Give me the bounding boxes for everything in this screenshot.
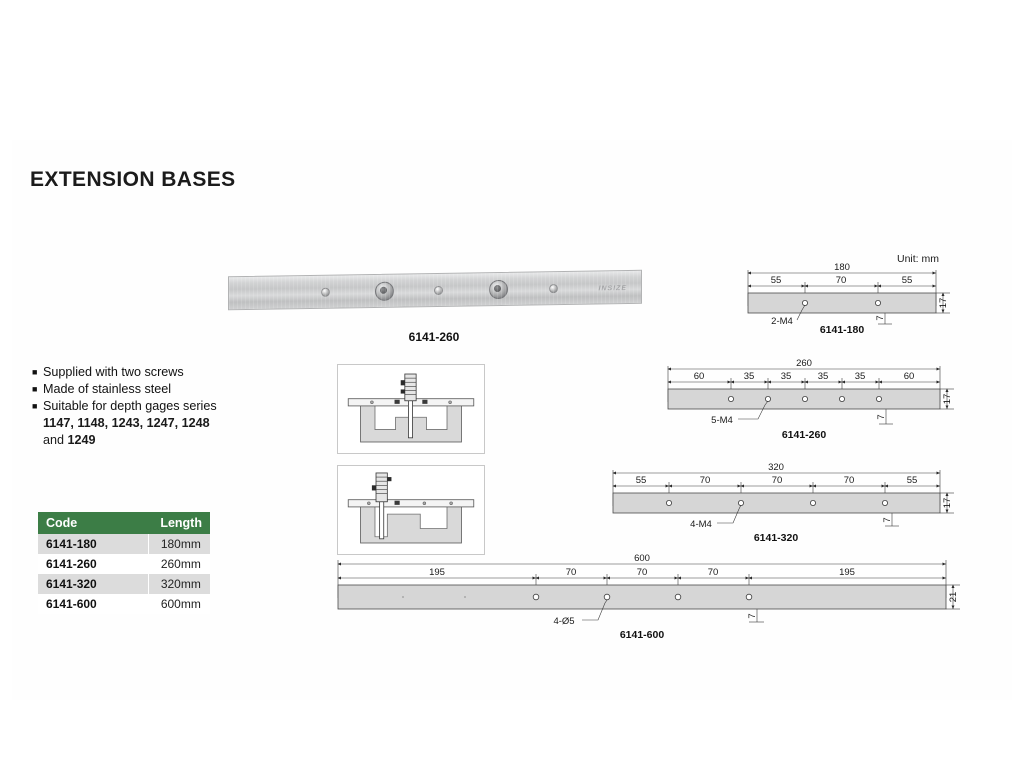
- application-diagram-centered: [337, 364, 485, 454]
- dim-seg: 195: [429, 567, 445, 578]
- column-header-code: Code: [38, 512, 148, 534]
- bullet-square-icon: ■: [32, 381, 43, 398]
- dim-seg: 70: [836, 275, 847, 286]
- dim-seg: 195: [839, 567, 855, 578]
- dim-total-180: 180: [834, 262, 850, 273]
- feature-series-line: 1147, 1148, 1243, 1247, 1248: [43, 415, 302, 432]
- cell-code: 6141-600: [38, 594, 148, 614]
- drawing-6141-180: 180 55 70 55 17 7 2-M4 6141-180: [740, 262, 960, 340]
- dim-total-260: 260: [796, 358, 812, 369]
- insize-logo: INSIZE: [598, 285, 627, 292]
- dim-seg: 35: [781, 371, 792, 382]
- product-bar-image: INSIZE: [228, 270, 642, 311]
- feature-text-0: Supplied with two screws: [43, 364, 302, 381]
- dim-seg: 70: [700, 475, 711, 486]
- table-row: 6141-320 320mm: [38, 574, 210, 594]
- dim-seg: 70: [844, 475, 855, 486]
- cell-length: 600mm: [148, 594, 210, 614]
- list-item: ■ Made of stainless steel: [32, 381, 302, 398]
- dim-seg: 55: [907, 475, 918, 486]
- dim-seg: 55: [636, 475, 647, 486]
- dim-thickness: 17: [938, 298, 949, 309]
- page-title: EXTENSION BASES: [30, 168, 236, 192]
- dim-thickness: 17: [942, 498, 953, 509]
- dim-thickness: 21: [948, 592, 959, 603]
- photo-hole: [321, 288, 330, 297]
- hole-note: 4-Ø5: [553, 616, 574, 627]
- dim-hole-depth: 7: [875, 315, 886, 320]
- hole-note: 2-M4: [771, 316, 793, 327]
- dim-seg: 70: [637, 567, 648, 578]
- dim-seg: 70: [772, 475, 783, 486]
- dim-total-600: 600: [634, 553, 650, 564]
- hole-note: 4-M4: [690, 519, 712, 530]
- photo-hole: [549, 284, 558, 293]
- drawing-6141-600: 600 195 70 70 70 195 21 7 4-Ø5 6141-600: [330, 552, 966, 644]
- table-row: 6141-180 180mm: [38, 534, 210, 554]
- dim-seg: 35: [855, 371, 866, 382]
- feature-text-2: Suitable for depth gages series: [43, 398, 302, 415]
- spec-table: Code Length 6141-180 180mm 6141-260 260m…: [38, 512, 210, 614]
- cell-code: 6141-180: [38, 534, 148, 554]
- table-header-row: Code Length: [38, 512, 210, 534]
- cell-length: 180mm: [148, 534, 210, 554]
- dim-hole-depth: 7: [876, 414, 887, 419]
- bullet-square-icon: ■: [32, 364, 43, 381]
- drawing-caption: 6141-260: [782, 429, 827, 441]
- dim-seg: 55: [902, 275, 913, 286]
- list-item: ■ Supplied with two screws: [32, 364, 302, 381]
- product-photo: INSIZE: [228, 268, 640, 310]
- dim-seg: 60: [904, 371, 915, 382]
- cell-length: 320mm: [148, 574, 210, 594]
- drawing-caption: 6141-600: [620, 629, 665, 641]
- cell-code: 6141-320: [38, 574, 148, 594]
- series-cont-prefix: and: [43, 433, 68, 447]
- drawing-6141-320: 320 55 70 70 70 55 17 7 4-M4 6141-320: [605, 462, 960, 550]
- dim-seg: 35: [744, 371, 755, 382]
- dim-hole-depth: 7: [882, 517, 893, 522]
- drawing-6141-260: 260 60 35 35 35 35 60 17 7 5-M4 6141-260: [660, 358, 960, 448]
- series-code-last: 1249: [68, 433, 96, 447]
- list-item: ■ Suitable for depth gages series: [32, 398, 302, 415]
- dim-thickness: 17: [942, 394, 953, 405]
- feature-list: ■ Supplied with two screws ■ Made of sta…: [32, 364, 302, 448]
- table-row: 6141-600 600mm: [38, 594, 210, 614]
- hole-note: 5-M4: [711, 415, 733, 426]
- photo-screw: [375, 282, 394, 301]
- photo-screw: [489, 280, 508, 299]
- bullet-square-icon: ■: [32, 398, 43, 415]
- feature-series-cont: and 1249: [43, 432, 302, 449]
- dim-seg: 70: [566, 567, 577, 578]
- column-header-length: Length: [148, 512, 210, 534]
- series-codes: 1147, 1148, 1243, 1247, 1248: [43, 416, 210, 430]
- cell-code: 6141-260: [38, 554, 148, 574]
- dim-seg: 60: [694, 371, 705, 382]
- product-photo-caption: 6141-260: [228, 330, 640, 344]
- cell-length: 260mm: [148, 554, 210, 574]
- dim-seg: 70: [708, 567, 719, 578]
- application-diagram-offset: [337, 465, 485, 555]
- photo-hole: [434, 286, 443, 295]
- dim-seg: 55: [771, 275, 782, 286]
- dim-hole-depth: 7: [747, 613, 758, 618]
- dim-total-320: 320: [768, 462, 784, 473]
- feature-text-1: Made of stainless steel: [43, 381, 302, 398]
- table-row: 6141-260 260mm: [38, 554, 210, 574]
- dim-seg: 35: [818, 371, 829, 382]
- drawing-caption: 6141-180: [820, 324, 865, 336]
- drawing-caption: 6141-320: [754, 532, 799, 544]
